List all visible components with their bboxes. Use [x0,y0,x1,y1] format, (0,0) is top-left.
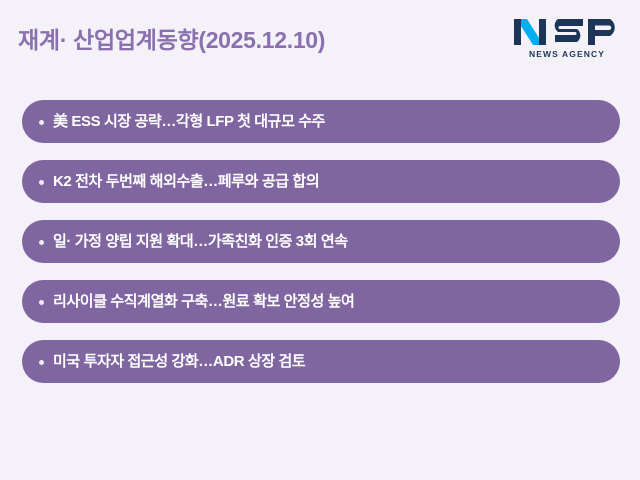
list-item[interactable]: 미국 투자자 접근성 강화…ADR 상장 검토 [22,340,620,383]
list-item-label: 美 ESS 시장 공략…각형 LFP 첫 대규모 수주 [53,113,620,131]
bullet-icon [39,360,44,365]
list-item-label: K2 전차 두번째 해외수출…페루와 공급 합의 [53,173,620,191]
nsp-logo-mark [512,16,622,48]
list-item[interactable]: K2 전차 두번째 해외수출…페루와 공급 합의 [22,160,620,203]
list-item[interactable]: 일· 가정 양립 지원 확대…가족친화 인증 3회 연속 [22,220,620,263]
list-item[interactable]: 美 ESS 시장 공략…각형 LFP 첫 대규모 수주 [22,100,620,143]
bullet-icon [39,300,44,305]
page-title: 재계· 산업업계동향(2025.12.10) [18,27,325,55]
logo-subtitle: NEWS AGENCY [512,49,622,59]
bullet-icon [39,120,44,125]
list-item[interactable]: 리사이클 수직계열화 구축…원료 확보 안정성 높여 [22,280,620,323]
headline-list: 美 ESS 시장 공략…각형 LFP 첫 대규모 수주 K2 전차 두번째 해외… [22,100,620,383]
news-summary-card: 재계· 산업업계동향(2025.12.10) NEWS AGENCY 美 ESS… [0,0,640,480]
list-item-label: 리사이클 수직계열화 구축…원료 확보 안정성 높여 [53,293,620,311]
bullet-icon [39,240,44,245]
list-item-label: 일· 가정 양립 지원 확대…가족친화 인증 3회 연속 [53,233,620,251]
card-header: 재계· 산업업계동향(2025.12.10) NEWS AGENCY [0,0,640,92]
nsp-logo: NEWS AGENCY [512,16,622,64]
bullet-icon [39,180,44,185]
list-item-label: 미국 투자자 접근성 강화…ADR 상장 검토 [53,353,620,371]
